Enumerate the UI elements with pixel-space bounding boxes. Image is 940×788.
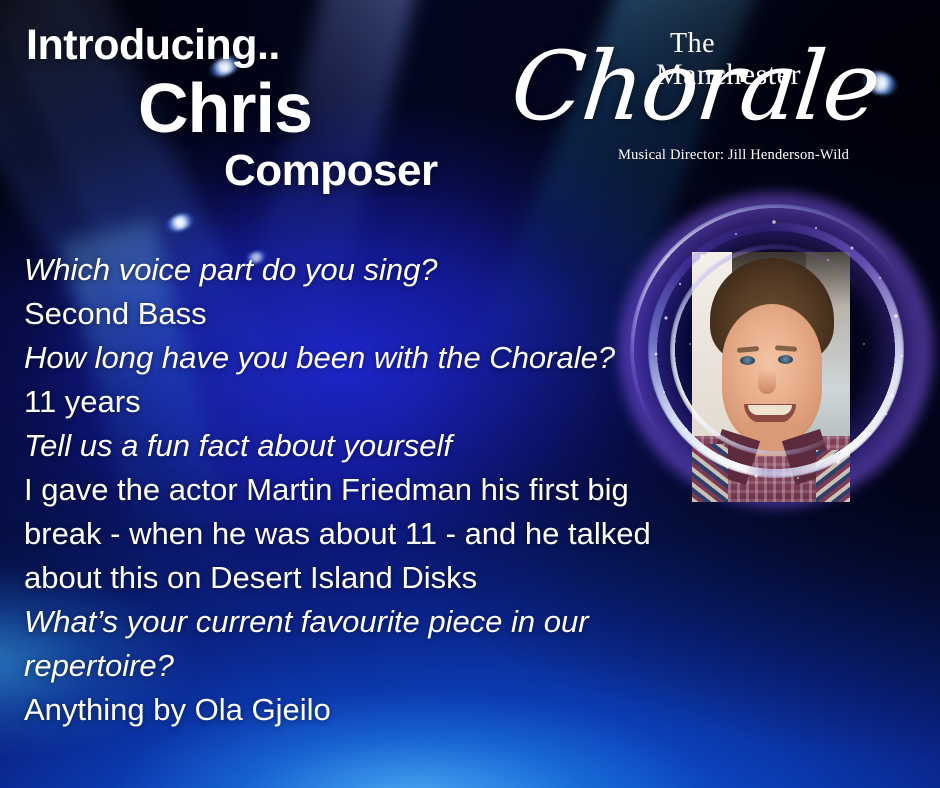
portrait-nose [758,370,776,394]
qa-block: Which voice part do you sing? Second Bas… [24,248,704,732]
manchester-chorale-logo: Chorale The Manchester Musical Director:… [512,22,932,174]
portrait-shirt-pattern [692,436,850,502]
qa-answer: Second Bass [24,292,704,336]
portrait-scarf-right [816,450,850,502]
portrait-neck [744,422,798,456]
portrait-eyebrow-right [775,345,797,352]
qa-answer: Anything by Ola Gjeilo [24,688,704,732]
member-photo [692,252,850,502]
portrait-mouth [744,404,796,424]
logo-line-manchester: Manchester [656,60,801,90]
logo-line-the: The [670,30,715,58]
portrait-collar-right [782,429,834,485]
portrait-face [722,304,822,446]
photo-background-top [732,252,806,286]
qa-answer: 11 years [24,380,704,424]
introducing-member-poster: Introducing.. Chris Composer Chorale The… [0,0,940,788]
spotlight-lamp-2 [163,210,196,234]
qa-question: What’s your current favourite piece in o… [24,600,704,688]
portrait-eye-right [778,355,793,364]
portrait-collar-left [708,429,760,485]
portrait-hair [710,258,834,362]
photo-background-right [794,252,850,502]
portrait-eye-left [740,356,755,365]
qa-answer: I gave the actor Martin Friedman his fir… [24,468,704,600]
qa-question: Which voice part do you sing? [24,248,704,292]
portrait-teeth [748,405,792,415]
qa-question: How long have you been with the Chorale? [24,336,704,380]
portrait-eyebrow-left [737,346,759,353]
logo-musical-director: Musical Director: Jill Henderson-Wild [618,148,849,163]
portrait-shirt [692,436,850,502]
qa-question: Tell us a fun fact about yourself [24,424,704,468]
